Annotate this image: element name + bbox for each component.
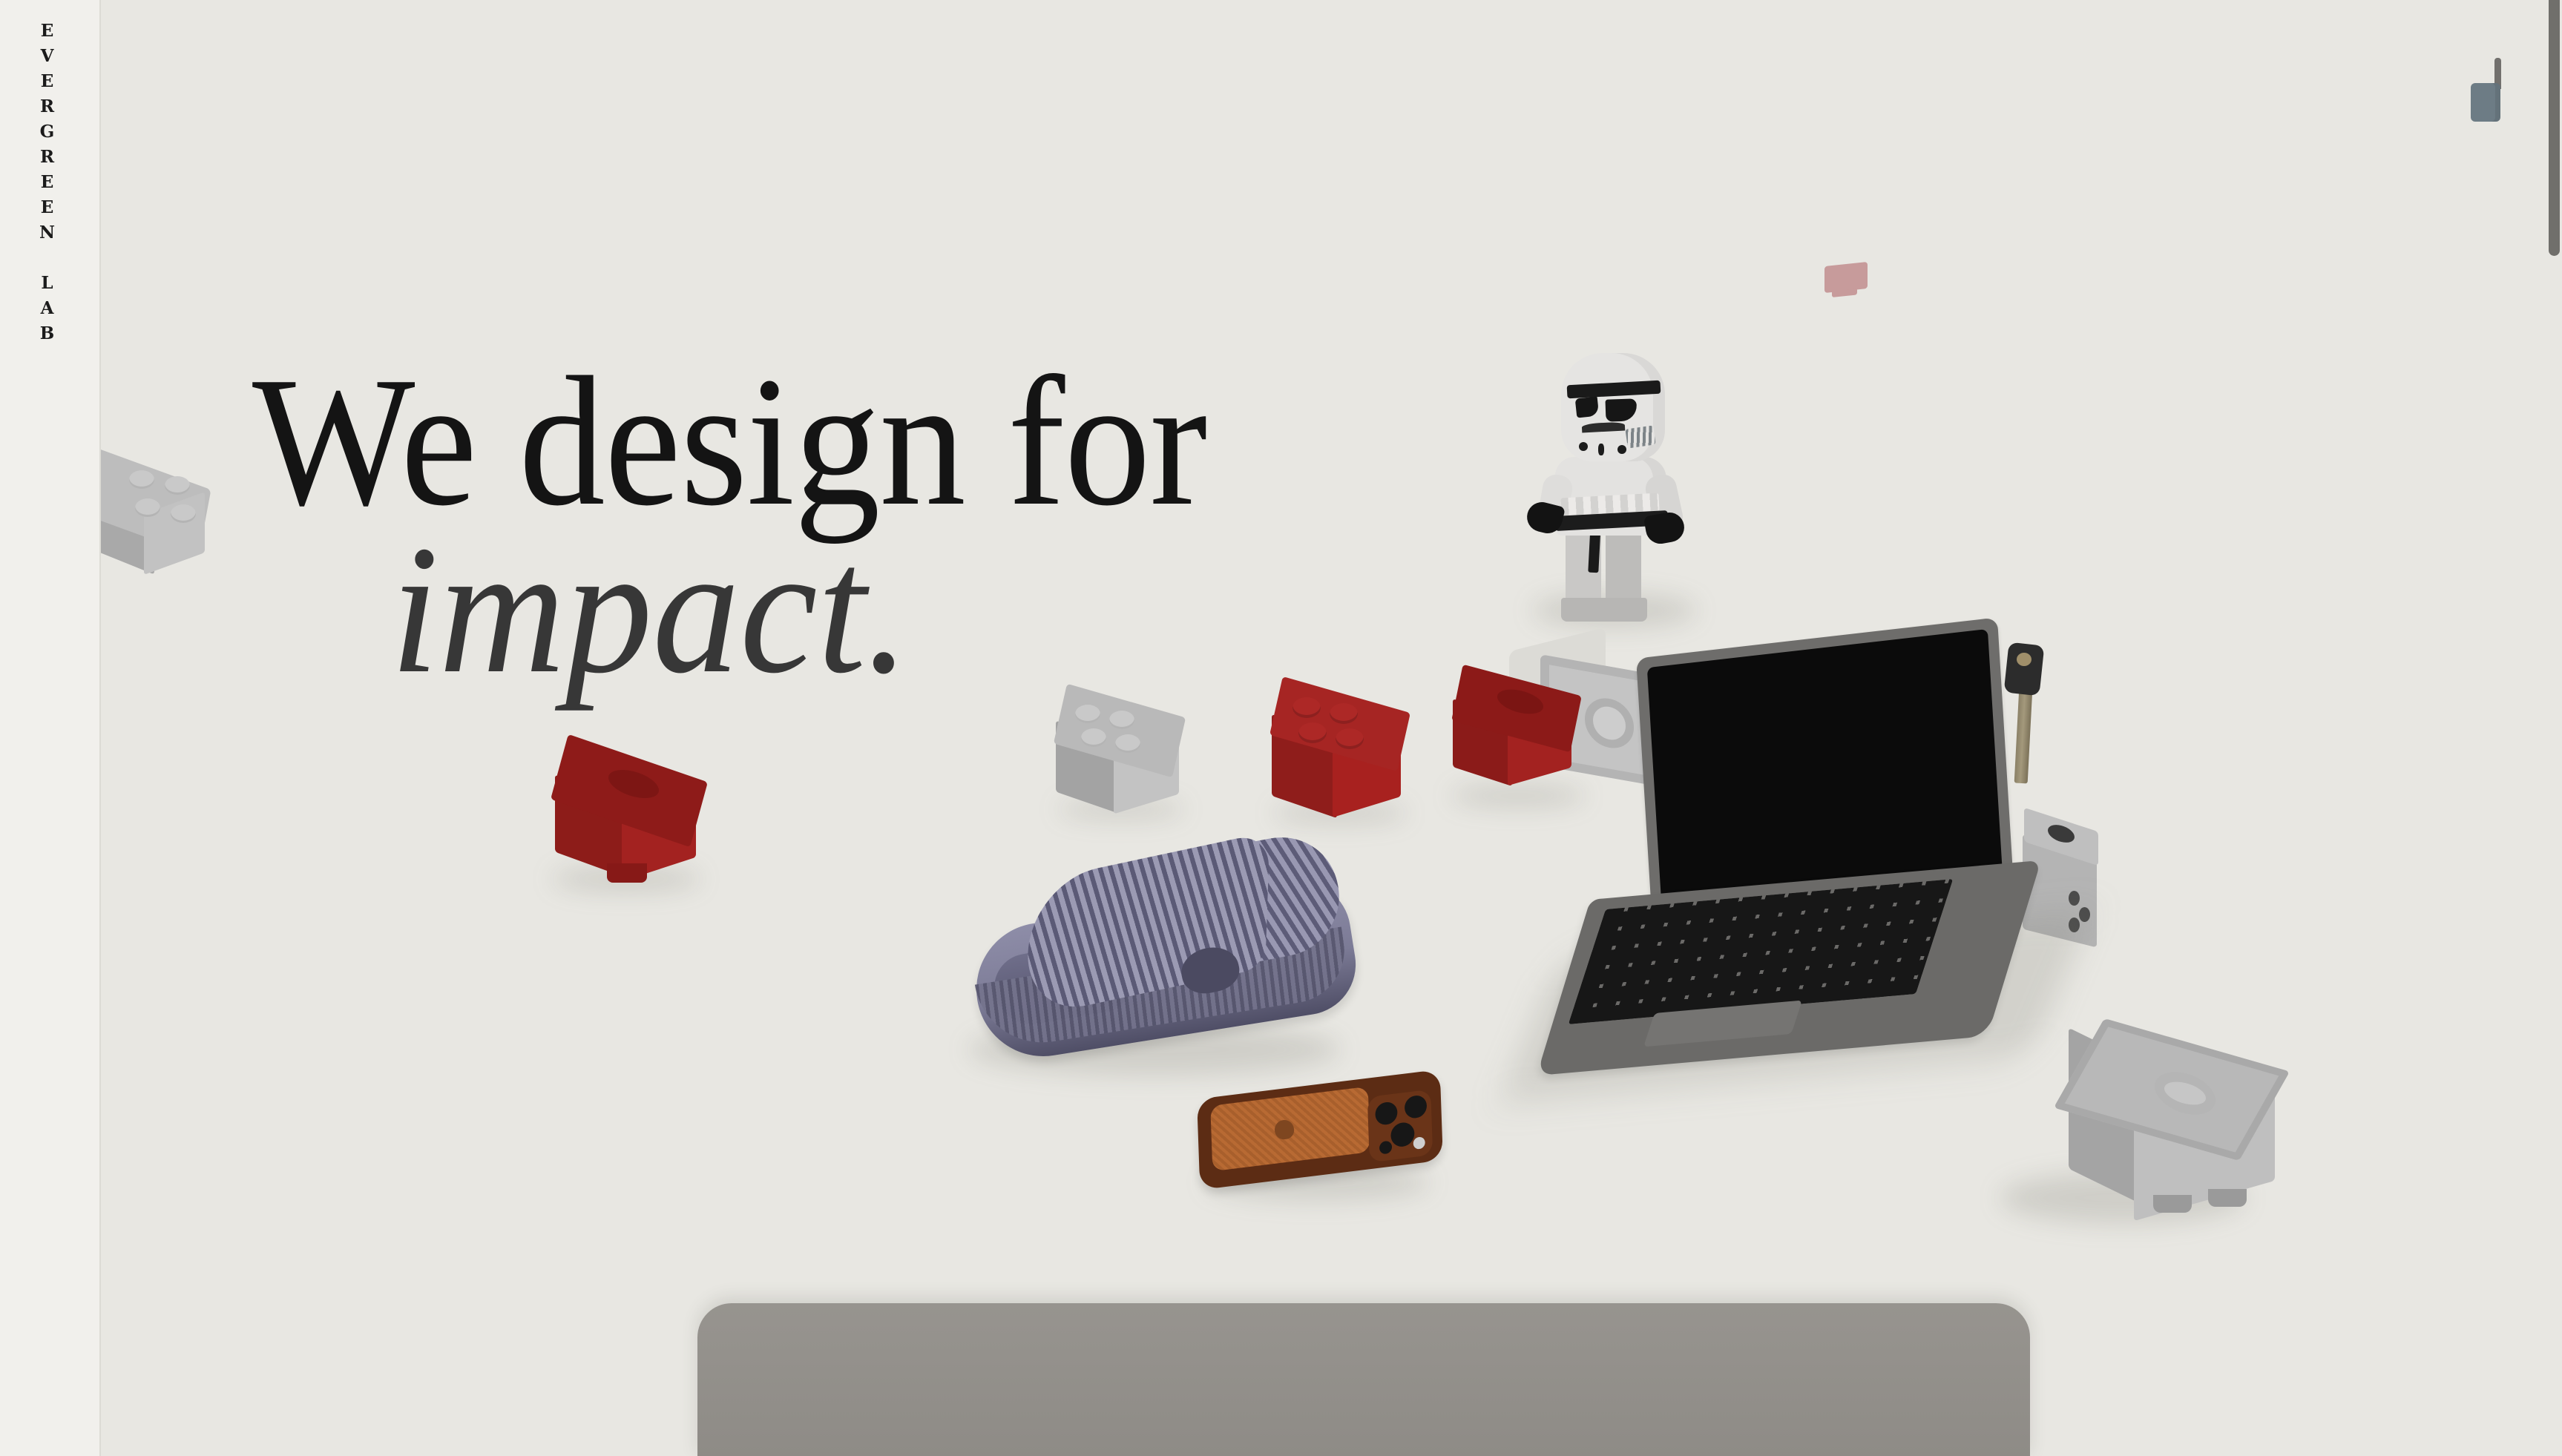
walkie-body <box>2471 83 2500 122</box>
lego-stormtrooper-minifig <box>1511 349 1711 630</box>
pink-lego-piece <box>1824 262 1868 293</box>
lego-brick-gray-left <box>101 466 242 570</box>
bottom-panel <box>697 1303 2030 1456</box>
headline-line-1: We design for <box>252 353 1206 531</box>
slide-sandal <box>962 816 1377 1083</box>
page-root: We design for impact. EVERGREEN LAB <box>0 0 2562 1456</box>
headline-line-2: impact. <box>390 527 1234 692</box>
macbook-laptop <box>1518 638 2126 1127</box>
brand-name: EVERGREEN LAB <box>39 21 56 349</box>
hero-headline: We design for impact. <box>252 353 1278 692</box>
lego-brick-gray-center <box>1053 699 1201 817</box>
vertical-scrollbar-track[interactable] <box>2549 0 2562 1456</box>
lego-brick-red-lower-left <box>545 755 715 896</box>
phone-camera-module <box>1367 1090 1433 1163</box>
brand-logo[interactable]: EVERGREEN LAB <box>39 21 61 349</box>
left-rail: EVERGREEN LAB <box>0 0 101 1456</box>
lego-brick-red-center <box>1266 690 1422 827</box>
vertical-scrollbar-thumb[interactable] <box>2549 0 2560 256</box>
iphone <box>1198 1084 1442 1190</box>
walkie-talkie <box>2468 52 2512 134</box>
hero-stage: We design for impact. <box>101 0 2549 1456</box>
